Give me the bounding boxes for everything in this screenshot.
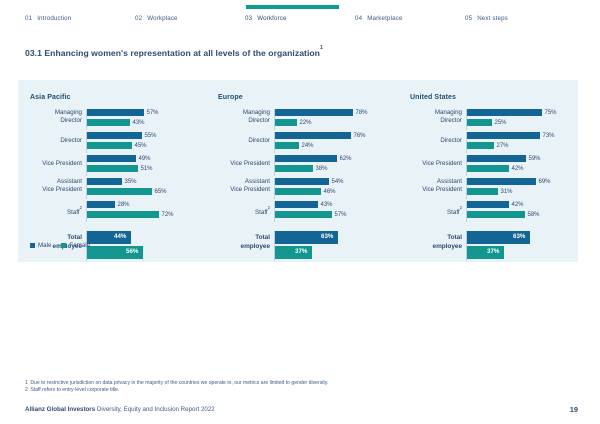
nav-item-workforce[interactable]: 03Workforce <box>245 15 287 22</box>
bar-fill <box>467 178 536 185</box>
chart-legend: MaleFemale <box>30 242 90 249</box>
bar-male: 35% <box>87 178 216 185</box>
nav-item-label: Marketplace <box>367 15 402 22</box>
bar-value-label: 49% <box>139 155 151 163</box>
bar-fill <box>87 132 142 139</box>
bar-value-label: 54% <box>332 178 344 186</box>
row-label: AssistantVice President <box>410 178 466 194</box>
bar-fill <box>467 201 509 208</box>
row-label: AssistantVice President <box>30 178 86 194</box>
bar-fill <box>87 188 152 195</box>
bar-value-label: 27% <box>497 142 509 150</box>
bar-male: 73% <box>467 132 596 139</box>
total-bar-value-label: 56% <box>126 248 138 255</box>
bar-fill <box>275 155 337 162</box>
bar-female: 45% <box>87 142 216 149</box>
bar-fill <box>275 132 351 139</box>
row-label-line: Vice President <box>230 186 270 193</box>
active-tab-indicator <box>246 5 339 9</box>
bar-fill <box>467 155 526 162</box>
footnote-text: Staff refers to entry-level corporate ti… <box>30 387 119 393</box>
bar-value-label: 42% <box>512 165 524 173</box>
row-label-line: Staff <box>447 209 460 216</box>
footer-report: Diversity, Equity and Inclusion Report 2… <box>97 406 215 413</box>
row-label: Director <box>30 137 86 145</box>
row-label: ManagingDirector <box>30 109 86 125</box>
nav-item-number: 01 <box>25 15 32 22</box>
region-rows: ManagingDirector78%22%Director76%24%Vice… <box>218 109 404 261</box>
section-nav: 01Introduction02Workplace03Workforce04Ma… <box>0 0 600 32</box>
chart-row: Staff242%58% <box>410 201 596 222</box>
row-label: Vice President <box>218 160 274 168</box>
legend-swatch-icon <box>30 243 35 248</box>
row-bars: 42%58% <box>466 201 596 222</box>
row-bars: 55%45% <box>86 132 216 153</box>
bar-value-label: 38% <box>316 165 328 173</box>
row-bars: 62%38% <box>274 155 404 176</box>
row-bars: 54%46% <box>274 178 404 199</box>
bar-female: 25% <box>467 119 596 126</box>
row-label-line: Staff <box>255 209 268 216</box>
bar-female: 51% <box>87 165 216 172</box>
legend-item-female[interactable]: Female <box>61 242 90 249</box>
bar-female: 24% <box>275 142 404 149</box>
region-title: Europe <box>218 94 404 101</box>
bar-value-label: 24% <box>302 142 314 150</box>
bar-male: 57% <box>87 109 216 116</box>
bar-fill <box>87 178 122 185</box>
bar-fill <box>87 142 132 149</box>
bar-female: 42% <box>467 165 596 172</box>
row-label: Director <box>218 137 274 145</box>
chart-row: Vice President59%42% <box>410 155 596 176</box>
total-bar-male: 44% <box>87 231 216 244</box>
bar-fill <box>275 178 329 185</box>
row-label-line: Assistant <box>245 178 270 185</box>
bar-fill <box>467 211 525 218</box>
total-bar-female: 56% <box>87 246 216 259</box>
row-label-footnote-marker: 2 <box>460 205 462 210</box>
row-label: ManagingDirector <box>218 109 274 125</box>
row-label: Vice President <box>410 160 466 168</box>
bar-value-label: 75% <box>545 109 557 117</box>
chart-row: AssistantVice President54%46% <box>218 178 404 199</box>
bar-value-label: 43% <box>133 119 145 127</box>
bar-female: 46% <box>275 188 404 195</box>
bar-male: 69% <box>467 178 596 185</box>
bar-fill <box>467 132 540 139</box>
total-bar-value-label: 37% <box>295 248 307 255</box>
bar-value-label: 45% <box>135 142 147 150</box>
row-label-line: Director <box>60 117 82 124</box>
bar-female: 43% <box>87 119 216 126</box>
bar-fill <box>87 109 144 116</box>
page-title-footnote-marker: 1 <box>320 45 323 51</box>
chart-row: ManagingDirector57%43% <box>30 109 216 130</box>
total-bar-value-label: 44% <box>114 233 126 240</box>
bar-fill <box>467 119 492 126</box>
chart-row: ManagingDirector78%22% <box>218 109 404 130</box>
chart-row: AssistantVice President35%65% <box>30 178 216 199</box>
total-bar-male: 63% <box>275 231 404 244</box>
row-label: Vice President <box>30 160 86 168</box>
bar-fill <box>275 119 297 126</box>
row-label: Staff2 <box>218 206 274 217</box>
bar-female: 38% <box>275 165 404 172</box>
total-employee-label: Totalemployee <box>410 233 466 251</box>
footnote: 2Staff refers to entry-level corporate t… <box>25 387 328 394</box>
bar-male: 55% <box>87 132 216 139</box>
bar-female: 65% <box>87 188 216 195</box>
row-bars: 76%24% <box>274 132 404 153</box>
row-label-line: Managing <box>243 109 270 116</box>
total-employee-row: Totalemployee63%37% <box>410 231 596 261</box>
total-label-line: employee <box>433 243 462 250</box>
bar-fill <box>87 201 115 208</box>
total-bars: 63%37% <box>274 231 404 261</box>
bar-value-label: 22% <box>300 119 312 127</box>
nav-item-introduction[interactable]: 01Introduction <box>25 15 71 22</box>
bar-value-label: 55% <box>145 132 157 140</box>
bar-fill <box>87 155 136 162</box>
bar-female: 31% <box>467 188 596 195</box>
nav-item-number: 03 <box>245 15 252 22</box>
bar-male: 54% <box>275 178 404 185</box>
legend-label: Female <box>69 242 90 249</box>
row-bars: 35%65% <box>86 178 216 199</box>
legend-label: Male <box>38 242 51 249</box>
row-label-footnote-marker: 2 <box>268 205 270 210</box>
bar-value-label: 73% <box>543 132 555 140</box>
nav-item-label: Workplace <box>147 15 177 22</box>
page-title: 03.1 Enhancing women's representation at… <box>25 48 323 58</box>
bar-value-label: 43% <box>321 201 333 209</box>
row-label-footnote-marker: 2 <box>80 205 82 210</box>
region-panel-europe: EuropeManagingDirector78%22%Director76%2… <box>218 94 404 261</box>
chart-row: Director73%27% <box>410 132 596 153</box>
nav-item-marketplace[interactable]: 04Marketplace <box>355 15 403 22</box>
chart-row: AssistantVice President69%31% <box>410 178 596 199</box>
row-label-line: Assistant <box>57 178 82 185</box>
total-bar-female: 37% <box>275 246 404 259</box>
bar-fill <box>275 188 321 195</box>
region-rows: ManagingDirector75%25%Director73%27%Vice… <box>410 109 596 261</box>
nav-item-number: 05 <box>465 15 472 22</box>
nav-item-label: Next steps <box>477 15 508 22</box>
total-employee-row: Totalemployee63%37% <box>218 231 404 261</box>
row-label-line: Managing <box>435 109 462 116</box>
bar-fill <box>467 142 494 149</box>
bar-male: 62% <box>275 155 404 162</box>
row-bars: 78%22% <box>274 109 404 130</box>
bar-female: 57% <box>275 211 404 218</box>
row-label-line: Director <box>440 117 462 124</box>
footnote-number: 2 <box>25 387 28 393</box>
bar-value-label: 76% <box>354 132 366 140</box>
bar-male: 75% <box>467 109 596 116</box>
footnote: 1Due to restrictive jurisdiction on data… <box>25 380 328 387</box>
bar-value-label: 46% <box>324 188 336 196</box>
page-number: 19 <box>570 405 578 414</box>
row-label: Director <box>410 137 466 145</box>
bar-fill <box>87 119 130 126</box>
chart-row: Staff243%57% <box>218 201 404 222</box>
total-bars: 44%56% <box>86 231 216 261</box>
bar-value-label: 25% <box>495 119 507 127</box>
bar-male: 28% <box>87 201 216 208</box>
legend-swatch-icon <box>61 243 66 248</box>
bar-value-label: 31% <box>501 188 513 196</box>
bar-value-label: 65% <box>155 188 167 196</box>
footnote-text: Due to restrictive jurisdiction on data … <box>30 380 328 386</box>
row-bars: 73%27% <box>466 132 596 153</box>
bar-value-label: 69% <box>539 178 551 186</box>
footnotes: 1Due to restrictive jurisdiction on data… <box>25 380 328 395</box>
bar-fill <box>87 211 159 218</box>
bar-male: 49% <box>87 155 216 162</box>
total-bar-value-label: 63% <box>321 233 333 240</box>
row-label-line: Vice President <box>42 160 82 167</box>
footer-caption: Allianz Global Investors Diversity, Equi… <box>25 406 215 413</box>
bar-fill <box>467 165 509 172</box>
legend-item-male[interactable]: Male <box>30 242 51 249</box>
total-bar-value-label: 37% <box>487 248 499 255</box>
row-bars: 43%57% <box>274 201 404 222</box>
chart-row: Director76%24% <box>218 132 404 153</box>
chart-row: Vice President62%38% <box>218 155 404 176</box>
chart-row: Vice President49%51% <box>30 155 216 176</box>
bar-fill <box>275 211 332 218</box>
bar-male: 76% <box>275 132 404 139</box>
bar-fill <box>275 142 299 149</box>
total-label-line: Total <box>255 234 270 241</box>
region-title: United States <box>410 94 596 101</box>
row-bars: 49%51% <box>86 155 216 176</box>
total-bar-female: 37% <box>467 246 596 259</box>
row-bars: 75%25% <box>466 109 596 130</box>
bar-value-label: 57% <box>335 211 347 219</box>
row-bars: 57%43% <box>86 109 216 130</box>
bar-fill <box>467 109 542 116</box>
bar-value-label: 78% <box>356 109 368 117</box>
total-bar-male: 63% <box>467 231 596 244</box>
bar-female: 22% <box>275 119 404 126</box>
total-employee-label: Totalemployee <box>218 233 274 251</box>
page-title-text: 03.1 Enhancing women's representation at… <box>25 48 320 58</box>
bar-male: 43% <box>275 201 404 208</box>
bar-male: 59% <box>467 155 596 162</box>
total-label-line: Total <box>447 234 462 241</box>
row-label-line: Vice President <box>230 160 270 167</box>
row-label-line: Assistant <box>437 178 462 185</box>
total-label-line: employee <box>241 243 270 250</box>
region-panel-united-states: United StatesManagingDirector75%25%Direc… <box>410 94 596 261</box>
footer-brand: Allianz Global Investors <box>25 406 95 413</box>
bar-value-label: 62% <box>340 155 352 163</box>
row-label-line: Staff <box>67 209 80 216</box>
chart-row: Staff228%72% <box>30 201 216 222</box>
row-label-line: Managing <box>55 109 82 116</box>
bar-value-label: 35% <box>125 178 137 186</box>
region-panel-asia-pacific: Asia PacificManagingDirector57%43%Direct… <box>30 94 216 261</box>
bar-value-label: 51% <box>141 165 153 173</box>
bar-male: 42% <box>467 201 596 208</box>
chart-panel: Asia PacificManagingDirector57%43%Direct… <box>18 80 578 262</box>
row-label-line: Vice President <box>422 160 462 167</box>
bar-fill <box>275 109 353 116</box>
bar-value-label: 72% <box>162 211 174 219</box>
row-label-line: Vice President <box>42 186 82 193</box>
bar-value-label: 57% <box>147 109 159 117</box>
region-title: Asia Pacific <box>30 94 216 101</box>
row-label-line: Vice President <box>422 186 462 193</box>
row-bars: 28%72% <box>86 201 216 222</box>
nav-item-label: Introduction <box>37 15 71 22</box>
bar-value-label: 59% <box>529 155 541 163</box>
bar-female: 27% <box>467 142 596 149</box>
chart-row: Director55%45% <box>30 132 216 153</box>
total-bar-value-label: 63% <box>513 233 525 240</box>
row-label: Staff2 <box>410 206 466 217</box>
nav-item-number: 02 <box>135 15 142 22</box>
chart-row: ManagingDirector75%25% <box>410 109 596 130</box>
total-label-line: Total <box>67 234 82 241</box>
footnote-number: 1 <box>25 380 28 386</box>
bar-value-label: 28% <box>118 201 130 209</box>
nav-item-next-steps[interactable]: 05Next steps <box>465 15 508 22</box>
region-rows: ManagingDirector57%43%Director55%45%Vice… <box>30 109 216 261</box>
nav-item-number: 04 <box>355 15 362 22</box>
bar-fill <box>275 201 318 208</box>
row-bars: 59%42% <box>466 155 596 176</box>
row-bars: 69%31% <box>466 178 596 199</box>
total-bars: 63%37% <box>466 231 596 261</box>
bar-male: 78% <box>275 109 404 116</box>
bar-fill <box>275 165 313 172</box>
row-label: Staff2 <box>30 206 86 217</box>
bar-female: 72% <box>87 211 216 218</box>
bar-fill <box>87 165 138 172</box>
nav-item-workplace[interactable]: 02Workplace <box>135 15 178 22</box>
row-label-line: Director <box>60 137 82 144</box>
row-label: AssistantVice President <box>218 178 274 194</box>
row-label-line: Director <box>248 117 270 124</box>
row-label-line: Director <box>440 137 462 144</box>
nav-item-label: Workforce <box>257 15 286 22</box>
row-label: ManagingDirector <box>410 109 466 125</box>
bar-female: 58% <box>467 211 596 218</box>
row-label-line: Director <box>248 137 270 144</box>
bar-fill <box>467 188 498 195</box>
bar-value-label: 42% <box>512 201 524 209</box>
bar-value-label: 58% <box>528 211 540 219</box>
